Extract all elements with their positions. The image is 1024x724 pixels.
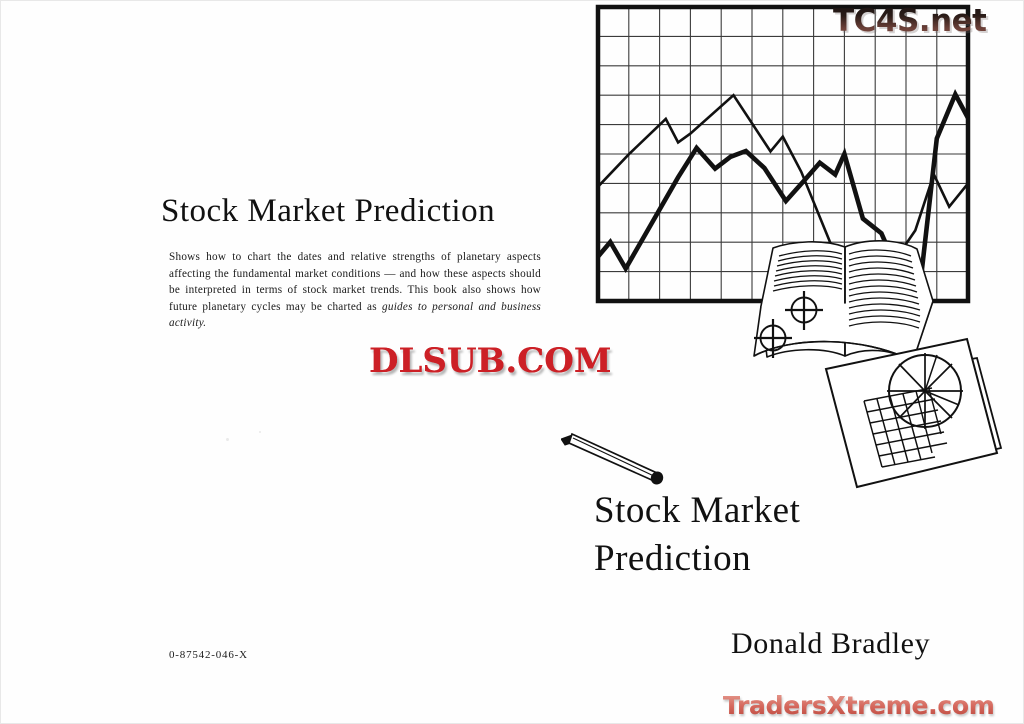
front-cover-title-line2: Prediction: [594, 537, 751, 580]
chart-paper-sheet: [826, 339, 997, 487]
front-cover-author: Donald Bradley: [731, 627, 930, 661]
scan-artifact-speck: [259, 431, 261, 433]
isbn-number: 0-87542-046-X: [169, 649, 248, 661]
front-cover-title-line1: Stock Market: [594, 489, 800, 532]
pencil-edge-line: [573, 438, 656, 477]
watermark-dlsub: DLSUB.COM: [369, 341, 611, 381]
watermark-tradersxtreme: TradersXtreme.com: [723, 691, 995, 720]
book-cover-page: Stock Market Prediction Shows how to cha…: [0, 0, 1024, 724]
cover-illustration: [561, 1, 1024, 521]
back-cover-title: Stock Market Prediction: [161, 193, 495, 230]
watermark-tc4s: TC4S.net: [833, 3, 986, 39]
pencil-body: [569, 434, 657, 481]
pencil: [561, 434, 665, 486]
front-cover-panel: Stock Market Prediction Donald Bradley: [561, 1, 1024, 724]
back-cover-blurb: Shows how to chart the dates and relativ…: [169, 249, 541, 332]
scan-artifact-speck: [226, 438, 229, 441]
